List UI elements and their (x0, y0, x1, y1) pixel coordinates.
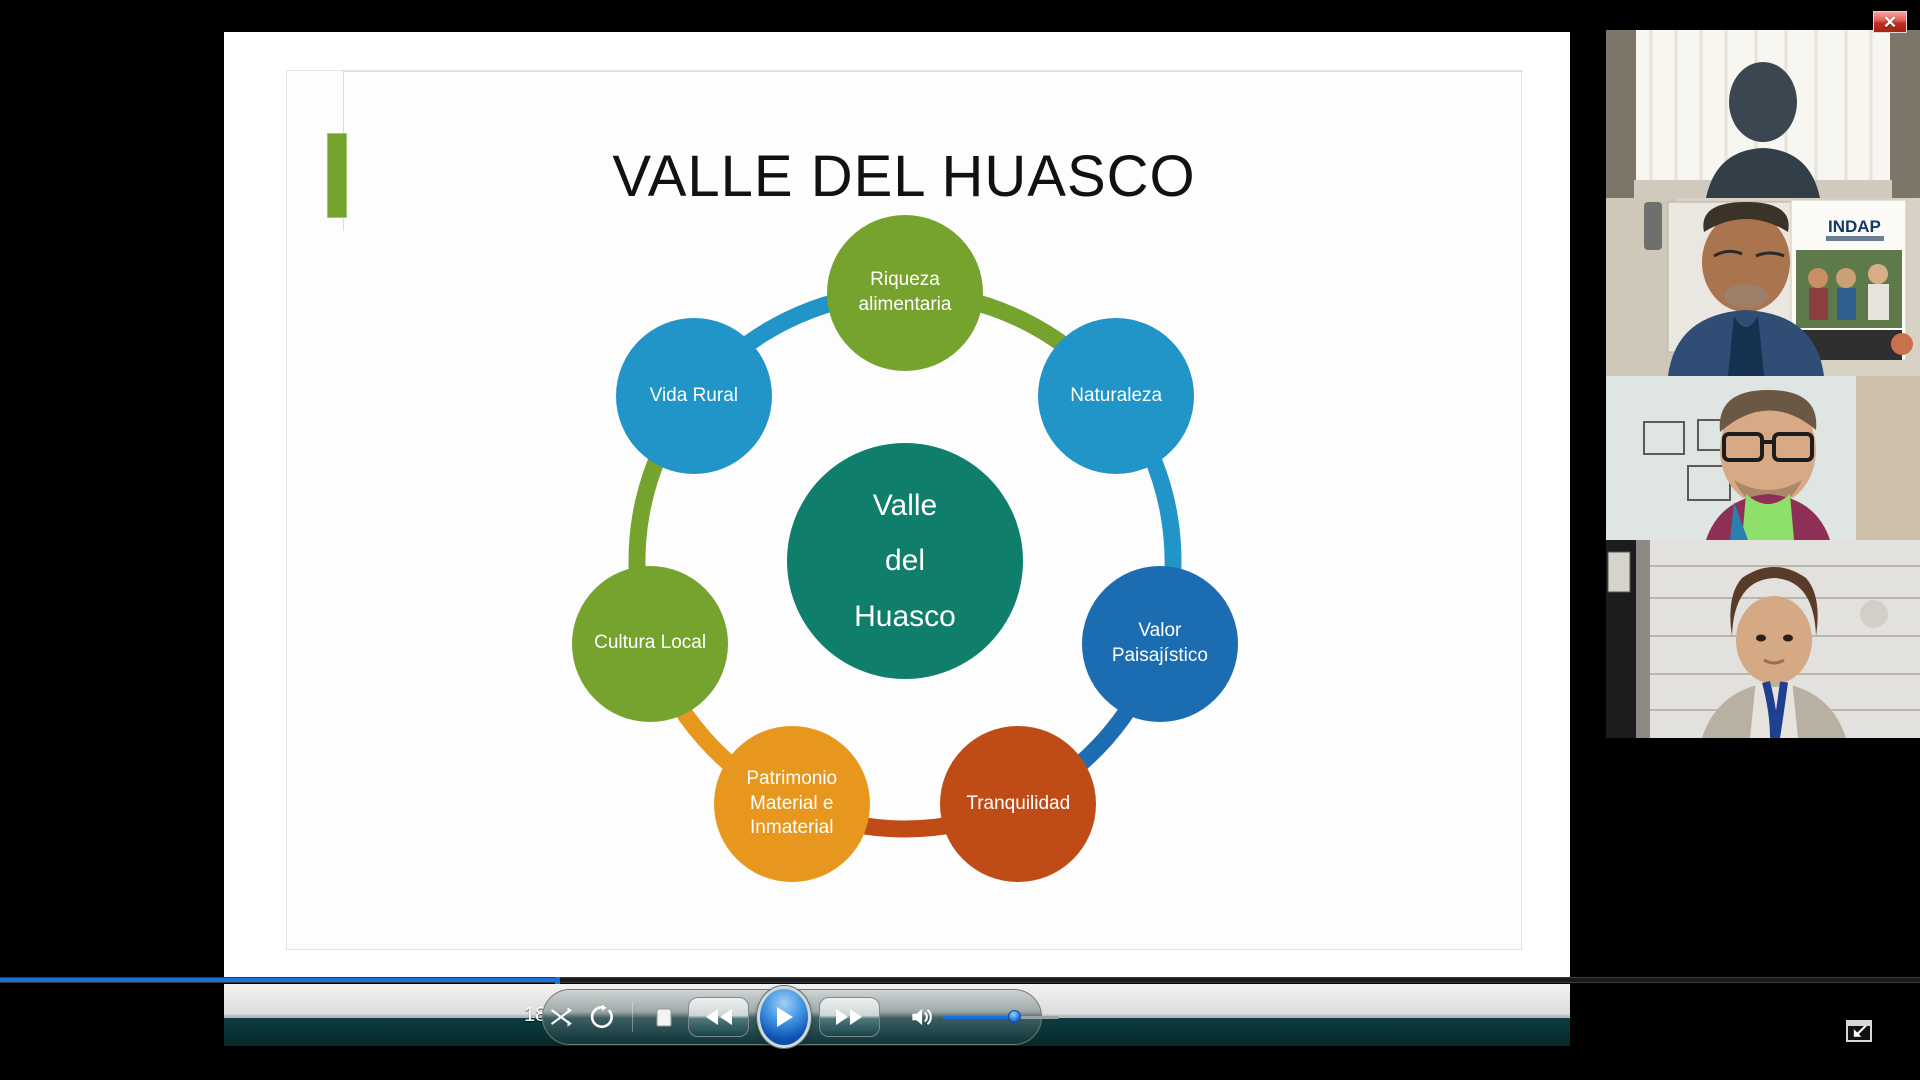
cycle-node-valor-paisajistico: ValorPaisajístico (1082, 566, 1238, 722)
cycle-center-node: ValledelHuasco (787, 443, 1023, 679)
participant-video-column: INDAP (1606, 30, 1920, 740)
player-control-bar: 18:39 (224, 984, 1570, 1046)
video-tile-participant-3[interactable] (1606, 376, 1920, 540)
svg-text:INDAP: INDAP (1828, 217, 1881, 236)
cycle-node-label-tranquilidad-line-1: Tranquilidad (960, 792, 1076, 817)
rewind-button[interactable] (688, 997, 749, 1037)
cycle-node-patrimonio: PatrimonioMaterial eInmaterial (714, 726, 870, 882)
participant-2-thumbnail: INDAP (1606, 198, 1920, 376)
cycle-center-label-line-2: del (848, 533, 962, 589)
video-playback-window: VALLE DEL HUASCO ValledelHuascoRiquezaal… (0, 0, 1920, 1080)
cycle-node-label-valor-paisajistico-line-2: Paisajístico (1106, 644, 1214, 669)
fast-forward-icon (832, 1007, 866, 1027)
restore-titlebar-line (1848, 1022, 1870, 1026)
restore-down-button[interactable] (1846, 1020, 1872, 1042)
cycle-node-label-patrimonio-line-1: Patrimonio (740, 767, 843, 792)
presentation-slide: VALLE DEL HUASCO ValledelHuascoRiquezaal… (286, 70, 1522, 950)
volume-button[interactable] (905, 998, 937, 1036)
volume-knob[interactable] (1008, 1010, 1021, 1023)
cycle-node-label-patrimonio-line-3: Inmaterial (740, 816, 843, 841)
cycle-node-tranquilidad: Tranquilidad (940, 726, 1096, 882)
cycle-node-label-patrimonio-line-2: Material e (740, 792, 843, 817)
cycle-node-naturaleza: Naturaleza (1038, 318, 1194, 474)
cycle-center-label-line-3: Huasco (848, 589, 962, 645)
cycle-diagram: ValledelHuascoRiquezaalimentariaNaturale… (287, 71, 1523, 951)
stop-icon (653, 1005, 675, 1029)
progress-fill (0, 978, 557, 982)
cycle-node-vida-rural: Vida Rural (616, 318, 772, 474)
close-icon: ✕ (1883, 14, 1897, 31)
cycle-node-label-naturaleza-line-1: Naturaleza (1064, 384, 1168, 409)
cycle-node-label-valor-paisajistico-line-1: Valor (1106, 619, 1214, 644)
video-tile-participant-1[interactable] (1606, 30, 1920, 198)
cycle-node-label-vida-rural-line-1: Vida Rural (644, 384, 744, 409)
cycle-center-label-line-1: Valle (848, 478, 962, 534)
fast-forward-button[interactable] (819, 997, 880, 1037)
play-button[interactable] (757, 986, 810, 1048)
video-tile-participant-4[interactable] (1606, 540, 1920, 738)
repeat-icon (589, 1004, 615, 1030)
video-tile-participant-2[interactable]: INDAP (1606, 198, 1920, 376)
shuffle-button[interactable] (543, 996, 579, 1038)
volume-slider[interactable] (943, 1007, 1041, 1027)
volume-icon (908, 1004, 934, 1030)
controls-divider (632, 1002, 633, 1032)
volume-fill (943, 1016, 1014, 1019)
stop-button[interactable] (645, 995, 682, 1039)
play-icon (772, 1004, 796, 1030)
cycle-node-label-riqueza-alimentaria-line-1: Riqueza (853, 268, 958, 293)
shuffle-icon (548, 1004, 574, 1030)
close-button[interactable]: ✕ (1873, 11, 1907, 33)
cycle-node-label-riqueza-alimentaria-line-2: alimentaria (853, 293, 958, 318)
cycle-node-riqueza-alimentaria: Riquezaalimentaria (827, 215, 983, 371)
playback-progress-bar[interactable] (0, 977, 1920, 983)
cycle-node-cultura-local: Cultura Local (572, 566, 728, 722)
transport-controls (542, 989, 1042, 1045)
participant-4-thumbnail (1606, 540, 1920, 738)
rewind-icon (702, 1007, 736, 1027)
controls-divider-2 (892, 1002, 893, 1032)
participant-3-thumbnail (1606, 376, 1920, 540)
cycle-node-label-cultura-local-line-1: Cultura Local (588, 631, 712, 656)
repeat-button[interactable] (585, 996, 621, 1038)
participant-1-thumbnail (1606, 30, 1920, 198)
slide-stage: VALLE DEL HUASCO ValledelHuascoRiquezaal… (224, 32, 1570, 977)
